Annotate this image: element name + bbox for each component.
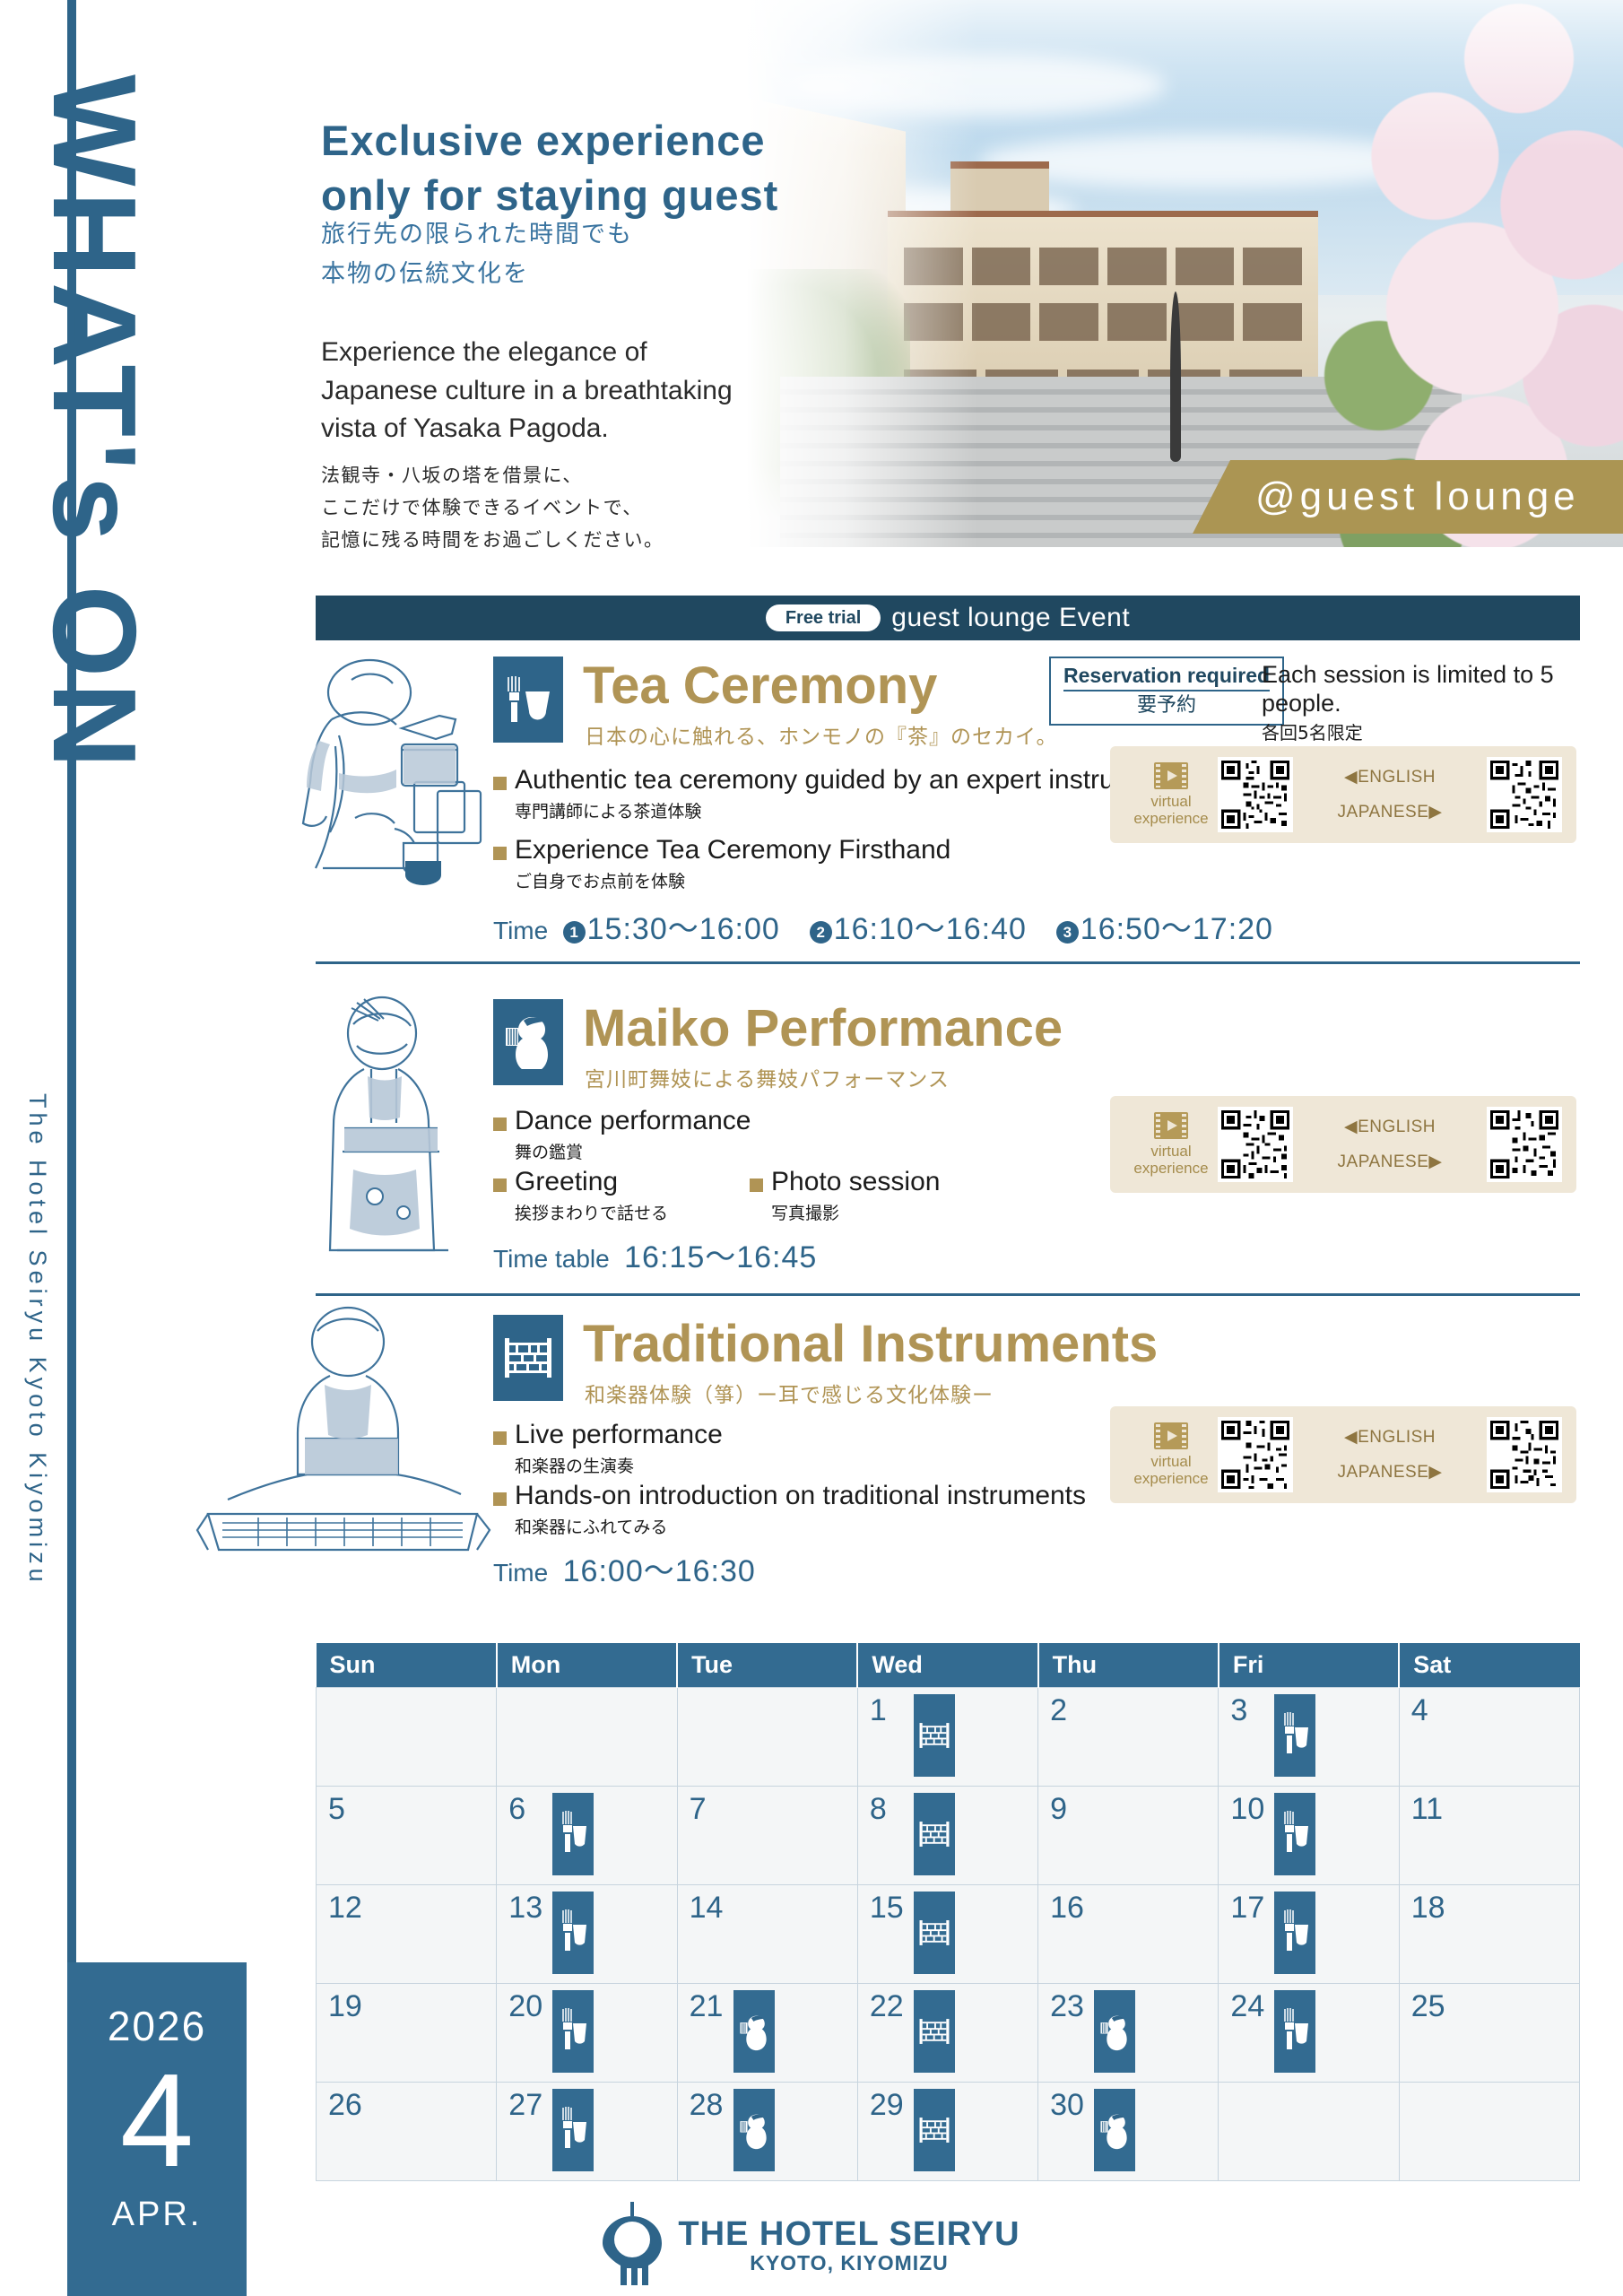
calendar-day-number: 27 (508, 2088, 542, 2123)
time-number-3: 3 (1056, 921, 1079, 944)
qr-language-labels: ◀ENGLISH JAPANESE▶ (1293, 767, 1487, 822)
time-value-3: 16:50〜17:20 (1081, 912, 1273, 946)
calendar-day-number: 11 (1411, 1792, 1443, 1827)
qr-code-japanese[interactable] (1487, 757, 1562, 832)
calendar-header-sun: Sun (317, 1643, 497, 1688)
qr-code-english[interactable] (1218, 1107, 1293, 1182)
time-row: Time 16:00〜16:30 (493, 1546, 756, 1590)
calendar-day-13[interactable]: 13 (497, 1885, 677, 1984)
virtual-experience-label: virtual experience (1124, 1422, 1218, 1487)
calendar-day-3[interactable]: 3 (1219, 1688, 1399, 1787)
bullet-jp: 専門講師による茶道体験 (515, 798, 1159, 822)
time-label: Time (493, 917, 548, 944)
calendar-day-11[interactable]: 11 (1399, 1787, 1579, 1885)
qr-code-japanese[interactable] (1487, 1417, 1562, 1492)
bullet-jp: 和楽器にふれてみる (515, 1514, 1086, 1538)
calendar-day-17[interactable]: 17 (1219, 1885, 1399, 1984)
time-label: Time (493, 1559, 548, 1587)
bullet-jp: 舞の鑑賞 (515, 1139, 751, 1163)
calendar-day-29[interactable]: 29 (857, 2083, 1037, 2181)
calendar-day-number: 8 (870, 1792, 887, 1827)
maiko-head-icon (1094, 1990, 1135, 2073)
bullet-jp: 写真撮影 (771, 1200, 940, 1224)
calendar-day-19[interactable]: 19 (317, 1984, 497, 2083)
bullet-square-icon (750, 1178, 763, 1192)
bullet-square-icon (493, 847, 507, 860)
koto-icon (914, 1793, 955, 1875)
hero-paragraph-line2: Japanese culture in a breathtaking (321, 372, 733, 411)
calendar-day-20[interactable]: 20 (497, 1984, 677, 2083)
session-limit-en: Each session is limited to 5 people. (1262, 660, 1580, 718)
time-label: Time table (493, 1245, 610, 1273)
calendar-day-number: 24 (1230, 1989, 1264, 2024)
time-value-1: 16:00〜16:30 (563, 1554, 756, 1588)
calendar-header-thu: Thu (1038, 1643, 1219, 1688)
calendar-day-number: 22 (870, 1989, 904, 2024)
bullet-jp: ご自身でお点前を体験 (515, 868, 950, 892)
bullet-en: Dance performance (515, 1105, 751, 1137)
section-jp-title: 日本の心に触れる、ホンモノの『茶』のセカイ。 (585, 719, 1058, 750)
calendar-day-number: 17 (1230, 1891, 1264, 1926)
footer-logo-text: THE HOTEL SEIRYU KYOTO, KIYOMIZU (678, 2217, 1020, 2274)
calendar-day-empty (1399, 2083, 1579, 2181)
calendar-header-fri: Fri (1219, 1643, 1399, 1688)
hero-top-fade (681, 0, 1623, 152)
calendar-week-row: 19202122232425 (317, 1984, 1580, 2083)
calendar-day-14[interactable]: 14 (677, 1885, 857, 1984)
section-divider (316, 1293, 1580, 1296)
calendar-day-number: 18 (1411, 1891, 1445, 1926)
qr-japanese-label: JAPANESE▶ (1293, 1462, 1487, 1483)
qr-japanese-label: JAPANESE▶ (1293, 1152, 1487, 1172)
calendar-day-2[interactable]: 2 (1038, 1688, 1219, 1787)
calendar-week-row: 567891011 (317, 1787, 1580, 1885)
qr-language-labels: ◀ENGLISH JAPANESE▶ (1293, 1427, 1487, 1483)
koto-icon (914, 1892, 955, 1974)
month-number: 4 (67, 2054, 247, 2188)
qr-english-label: ◀ENGLISH (1293, 1117, 1487, 1137)
calendar-day-number: 21 (690, 1989, 724, 2024)
bullet-jp: 和楽器の生演奏 (515, 1453, 723, 1477)
ve-line1: virtual (1124, 1453, 1218, 1470)
calendar-day-number: 13 (508, 1891, 542, 1926)
section-jp-title: 宮川町舞妓による舞妓パフォーマンス (585, 1062, 950, 1092)
calendar-day-9[interactable]: 9 (1038, 1787, 1219, 1885)
calendar-day-empty (317, 1688, 497, 1787)
calendar-day-number: 25 (1411, 1989, 1445, 2024)
virtual-experience-label: virtual experience (1124, 762, 1218, 827)
tea-whisk-bowl-icon (552, 1990, 594, 2073)
hotel-name: THE HOTEL SEIRYU (678, 2217, 1020, 2251)
bullet-en: Hands-on introduction on traditional ins… (515, 1480, 1086, 1512)
calendar-header-wed: Wed (857, 1643, 1037, 1688)
bullet-en: Live performance (515, 1419, 723, 1451)
qr-panel[interactable]: virtual experience ◀ENGLISH JAPANESE▶ (1110, 746, 1576, 843)
maiko-head-icon (493, 999, 563, 1085)
qr-japanese-label: JAPANESE▶ (1293, 802, 1487, 822)
calendar-day-number: 12 (328, 1891, 362, 1926)
event-banner: Free trial guest lounge Event (316, 596, 1580, 640)
guest-lounge-tag: @guest lounge (1193, 460, 1623, 534)
qr-code-english[interactable] (1218, 757, 1293, 832)
qr-code-english[interactable] (1218, 1417, 1293, 1492)
tea-whisk-bowl-icon (493, 657, 563, 743)
calendar-table: SunMonTueWedThuFriSat 123456789101112131… (316, 1643, 1580, 2181)
calendar-day-number: 26 (328, 2088, 362, 2123)
reservation-jp: 要予約 (1063, 691, 1270, 717)
maiko-head-icon (1094, 2089, 1135, 2171)
time-number-2: 2 (810, 921, 832, 944)
calendar-day-number: 15 (870, 1891, 904, 1926)
calendar-week-row: 1234 (317, 1688, 1580, 1787)
reservation-en: Reservation required (1063, 664, 1270, 691)
calendar-day-number: 19 (328, 1989, 362, 2024)
hero-paragraph: Experience the elegance of Japanese cult… (321, 334, 733, 448)
calendar-header-sat: Sat (1399, 1643, 1579, 1688)
calendar-day-number: 14 (690, 1891, 724, 1926)
section-jp-title: 和楽器体験（箏）ー耳で感じる文化体験ー (585, 1378, 994, 1408)
calendar-week-row: 12131415161718 (317, 1885, 1580, 1984)
calendar-day-number: 20 (508, 1989, 542, 2024)
qr-language-labels: ◀ENGLISH JAPANESE▶ (1293, 1117, 1487, 1172)
ve-line1: virtual (1124, 1143, 1218, 1160)
calendar-day-number: 9 (1050, 1792, 1067, 1827)
calendar-day-number: 10 (1230, 1792, 1264, 1827)
calendar-header-mon: Mon (497, 1643, 677, 1688)
hero-paragraph-line3: vista of Yasaka Pagoda. (321, 410, 733, 448)
calendar-day-30[interactable]: 30 (1038, 2083, 1219, 2181)
calendar-day-12[interactable]: 12 (317, 1885, 497, 1984)
calendar-day-empty (677, 1688, 857, 1787)
tea-whisk-bowl-icon (1274, 1892, 1315, 1974)
calendar-day-number: 23 (1050, 1989, 1084, 2024)
bullet-item: Photo session 写真撮影 (750, 1166, 940, 1224)
qr-panel[interactable]: virtual experience ◀ENGLISH JAPANESE▶ (1110, 1406, 1576, 1503)
calendar-day-number: 6 (508, 1792, 525, 1827)
section-title: Traditional Instruments (583, 1318, 1158, 1370)
hero-jp-body-line3: 記憶に残る時間をお過ごしください。 (321, 524, 664, 556)
koto-icon (914, 2089, 955, 2171)
bullet-square-icon (493, 1118, 507, 1131)
tea-whisk-bowl-icon (552, 2089, 594, 2171)
free-trial-badge: Free trial (766, 604, 881, 631)
bullet-square-icon (493, 1492, 507, 1506)
calendar-day-number: 28 (690, 2088, 724, 2123)
hero-jp-body-line1: 法観寺・八坂の塔を借景に、 (321, 459, 664, 491)
calendar-day-18[interactable]: 18 (1399, 1885, 1579, 1984)
session-limit-jp: 各回5名限定 (1262, 718, 1580, 744)
calendar-day-27[interactable]: 27 (497, 2083, 677, 2181)
time-value-1: 15:30〜16:00 (587, 912, 780, 946)
tea-master-illustration (269, 657, 493, 890)
film-play-icon (1154, 1422, 1188, 1449)
koto-icon (493, 1315, 563, 1401)
maiko-head-icon (733, 2089, 775, 2171)
tea-whisk-bowl-icon (552, 1793, 594, 1875)
calendar-day-number: 16 (1050, 1891, 1084, 1926)
hotel-name-vertical: The Hotel Seiryu Kyoto Kiyomizu (17, 1088, 58, 1644)
calendar-day-5[interactable]: 5 (317, 1787, 497, 1885)
bullet-item: Greeting 挨拶まわりで話せる (493, 1166, 668, 1224)
bullet-square-icon (493, 1178, 507, 1192)
ve-line2: experience (1124, 1470, 1218, 1487)
calendar-day-empty (1219, 2083, 1399, 2181)
calendar-day-16[interactable]: 16 (1038, 1885, 1219, 1984)
calendar-day-22[interactable]: 22 (857, 1984, 1037, 2083)
bullet-item: Dance performance 舞の鑑賞 (493, 1105, 751, 1163)
calendar-day-1[interactable]: 1 (857, 1688, 1037, 1787)
ve-line2: experience (1124, 810, 1218, 827)
sculpture (1170, 291, 1181, 462)
hero-jp-sub-line2: 本物の伝統文化を (321, 255, 633, 294)
koto-icon (914, 1990, 955, 2073)
hero-jp-body: 法観寺・八坂の塔を借景に、 ここだけで体験できるイベントで、 記憶に残る時間をお… (321, 459, 664, 556)
session-limit: Each session is limited to 5 people. 各回5… (1262, 660, 1580, 744)
calendar-day-number: 29 (870, 2088, 904, 2123)
ve-line1: virtual (1124, 793, 1218, 810)
hero-headline: Exclusive experience only for staying gu… (321, 113, 778, 222)
time-row: Time 115:30〜16:00 216:10〜16:40 316:50〜17… (493, 904, 1273, 948)
time-number-1: 1 (563, 921, 586, 944)
section-divider (316, 961, 1580, 964)
virtual-experience-label: virtual experience (1124, 1112, 1218, 1177)
hero-jp-sub-line1: 旅行先の限られた時間でも (321, 215, 633, 255)
koto-icon (914, 1694, 955, 1777)
time-value-2: 16:10〜16:40 (834, 912, 1027, 946)
calendar-day-8[interactable]: 8 (857, 1787, 1037, 1885)
time-row: Time table 16:15〜16:45 (493, 1232, 817, 1276)
calendar-day-15[interactable]: 15 (857, 1885, 1037, 1984)
calendar-day-25[interactable]: 25 (1399, 1984, 1579, 2083)
calendar-day-number: 30 (1050, 2088, 1084, 2123)
hero-jp-subheadline: 旅行先の限られた時間でも 本物の伝統文化を (321, 215, 633, 293)
bullet-en: Photo session (771, 1166, 940, 1198)
ve-line2: experience (1124, 1160, 1218, 1177)
koto-player-illustration (172, 1299, 513, 1568)
film-play-icon (1154, 1112, 1188, 1139)
qr-code-japanese[interactable] (1487, 1107, 1562, 1182)
qr-english-label: ◀ENGLISH (1293, 767, 1487, 787)
year-label: 2026 (67, 2002, 247, 2050)
hero-jp-body-line2: ここだけで体験できるイベントで、 (321, 491, 664, 524)
calendar-day-number: 3 (1230, 1693, 1247, 1728)
section-title: Tea Ceremony (583, 660, 937, 712)
calendar-day-28[interactable]: 28 (677, 2083, 857, 2181)
poster-page: @guest lounge WHAT's ON The Hotel Seiryu… (0, 0, 1623, 2296)
maiko-head-icon (733, 1990, 775, 2073)
footer: THE HOTEL SEIRYU KYOTO, KIYOMIZU (0, 2202, 1623, 2288)
calendar-day-number: 5 (328, 1792, 345, 1827)
calendar-day-number: 4 (1411, 1693, 1428, 1728)
calendar-day-10[interactable]: 10 (1219, 1787, 1399, 1885)
bullet-jp: 挨拶まわりで話せる (515, 1200, 668, 1224)
bullet-square-icon (493, 777, 507, 790)
calendar-day-26[interactable]: 26 (317, 2083, 497, 2181)
calendar-header-row: SunMonTueWedThuFriSat (317, 1643, 1580, 1688)
bullet-square-icon (493, 1431, 507, 1445)
calendar-day-4[interactable]: 4 (1399, 1688, 1579, 1787)
hero-paragraph-line1: Experience the elegance of (321, 334, 733, 372)
hotel-location: KYOTO, KIYOMIZU (678, 2253, 1020, 2274)
tea-whisk-bowl-icon (1274, 1793, 1315, 1875)
tea-whisk-bowl-icon (1274, 1990, 1315, 2073)
event-calendar: SunMonTueWedThuFriSat 123456789101112131… (316, 1643, 1580, 2181)
calendar-day-24[interactable]: 24 (1219, 1984, 1399, 2083)
section-title: Maiko Performance (583, 1003, 1063, 1055)
seiryu-lantern-logo (603, 2202, 662, 2288)
bullet-item: Live performance 和楽器の生演奏 (493, 1419, 723, 1477)
bullet-item: Hands-on introduction on traditional ins… (493, 1480, 1086, 1538)
calendar-day-21[interactable]: 21 (677, 1984, 857, 2083)
calendar-day-empty (497, 1688, 677, 1787)
reservation-required-badge: Reservation required 要予約 (1049, 657, 1284, 726)
bullet-en: Authentic tea ceremony guided by an expe… (515, 764, 1159, 796)
calendar-day-number: 1 (870, 1693, 887, 1728)
calendar-week-row: 2627282930 (317, 2083, 1580, 2181)
bullet-en: Greeting (515, 1166, 668, 1198)
hero-headline-line1: Exclusive experience (321, 113, 778, 168)
qr-english-label: ◀ENGLISH (1293, 1427, 1487, 1448)
tea-whisk-bowl-icon (1274, 1694, 1315, 1777)
calendar-header-tue: Tue (677, 1643, 857, 1688)
calendar-day-number: 7 (690, 1792, 707, 1827)
tea-whisk-bowl-icon (552, 1892, 594, 1974)
bullet-en: Experience Tea Ceremony Firsthand (515, 834, 950, 866)
calendar-day-6[interactable]: 6 (497, 1787, 677, 1885)
qr-panel[interactable]: virtual experience ◀ENGLISH JAPANESE▶ (1110, 1096, 1576, 1193)
film-play-icon (1154, 762, 1188, 789)
event-banner-text: guest lounge Event (891, 603, 1130, 633)
calendar-day-number: 2 (1050, 1693, 1067, 1728)
calendar-day-7[interactable]: 7 (677, 1787, 857, 1885)
bullet-item: Authentic tea ceremony guided by an expe… (493, 764, 1159, 822)
bullet-item: Experience Tea Ceremony Firsthand ご自身でお点… (493, 834, 950, 892)
calendar-day-23[interactable]: 23 (1038, 1984, 1219, 2083)
page-title-vertical: WHAT's ON (27, 58, 161, 1045)
maiko-illustration (282, 994, 488, 1263)
time-value-1: 16:15〜16:45 (624, 1240, 817, 1274)
